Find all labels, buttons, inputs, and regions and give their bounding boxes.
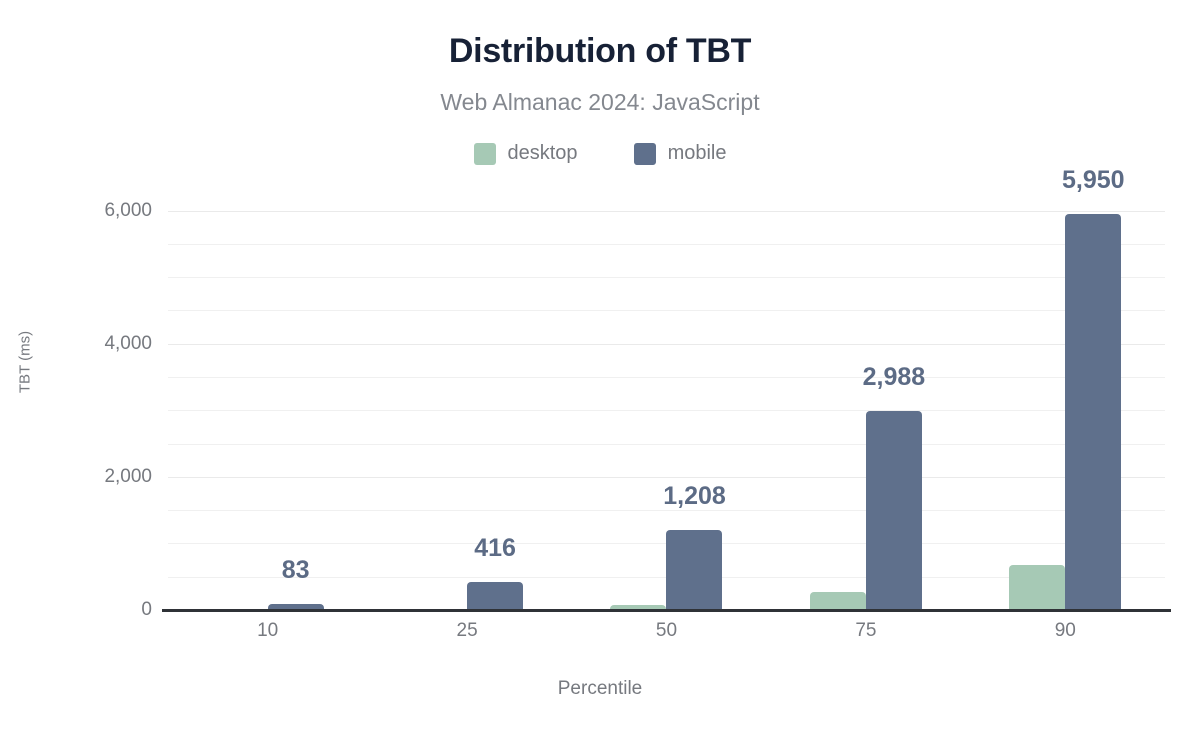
bar-group [966,194,1165,610]
bar-value-label-p75: 2,988 [794,363,994,392]
y-axis-tick-label: 6,000 [32,200,152,222]
bar-desktop-p75[interactable] [810,592,866,610]
bar-value-label-p50: 1,208 [595,482,795,511]
plot-wrapper: TBT (ms) 02,0004,0006,000 1025507590 834… [0,0,1200,742]
chart-container: Distribution of TBT Web Almanac 2024: Ja… [0,0,1200,742]
bar-mobile-p90[interactable] [1065,214,1121,610]
x-axis-tick-label: 75 [786,620,946,642]
bar-group [168,194,367,610]
bar-mobile-p75[interactable] [866,411,922,610]
x-axis-line [162,609,1171,612]
bar-value-label-p10: 83 [196,556,396,585]
bar-desktop-p90[interactable] [1009,565,1065,610]
bar-value-label-p90: 5,950 [993,166,1193,195]
x-axis-tick-label: 50 [587,620,747,642]
bar-mobile-p25[interactable] [467,582,523,610]
bar-mobile-p50[interactable] [666,530,722,610]
bar-value-label-p25: 416 [395,534,595,563]
y-axis-tick-label: 4,000 [32,333,152,355]
y-axis-tick-label: 0 [32,599,152,621]
y-axis-tick-label: 2,000 [32,466,152,488]
bar-group [567,194,766,610]
x-axis-tick-label: 25 [387,620,547,642]
y-axis-title: TBT (ms) [17,331,34,393]
bar-group [766,194,965,610]
x-axis-tick-label: 90 [985,620,1145,642]
x-axis-tick-label: 10 [188,620,348,642]
plot-area [168,194,1165,610]
x-axis-title: Percentile [0,678,1200,700]
